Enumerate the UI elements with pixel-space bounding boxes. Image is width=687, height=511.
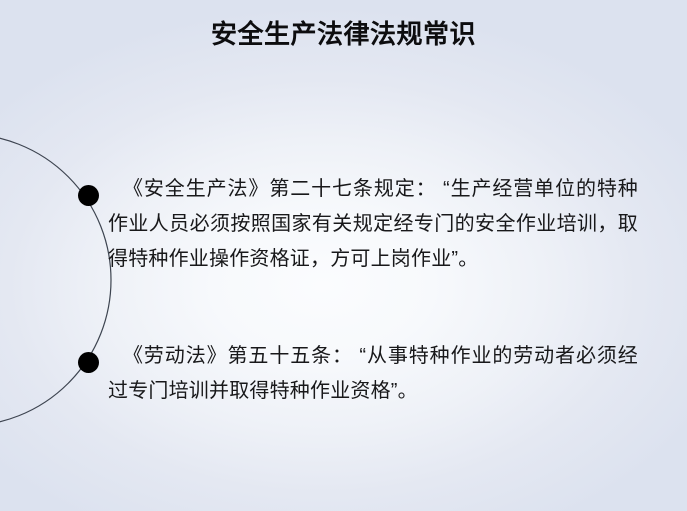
bullet-text: 《劳动法》第五十五条： “从事特种作业的劳动者必须经过专门培训并取得特种作业资格… — [108, 339, 638, 409]
bullet-list: 《安全生产法》第二十七条规定： “生产经营单位的特种作业人员必须按照国家有关规定… — [0, 0, 687, 511]
bullet-dot-icon — [78, 185, 99, 206]
slide-canvas: 安全生产法律法规常识 《安全生产法》第二十七条规定： “生产经营单位的特种作业人… — [0, 0, 687, 511]
bullet-dot-icon — [78, 352, 99, 373]
bullet-text: 《安全生产法》第二十七条规定： “生产经营单位的特种作业人员必须按照国家有关规定… — [108, 172, 638, 277]
